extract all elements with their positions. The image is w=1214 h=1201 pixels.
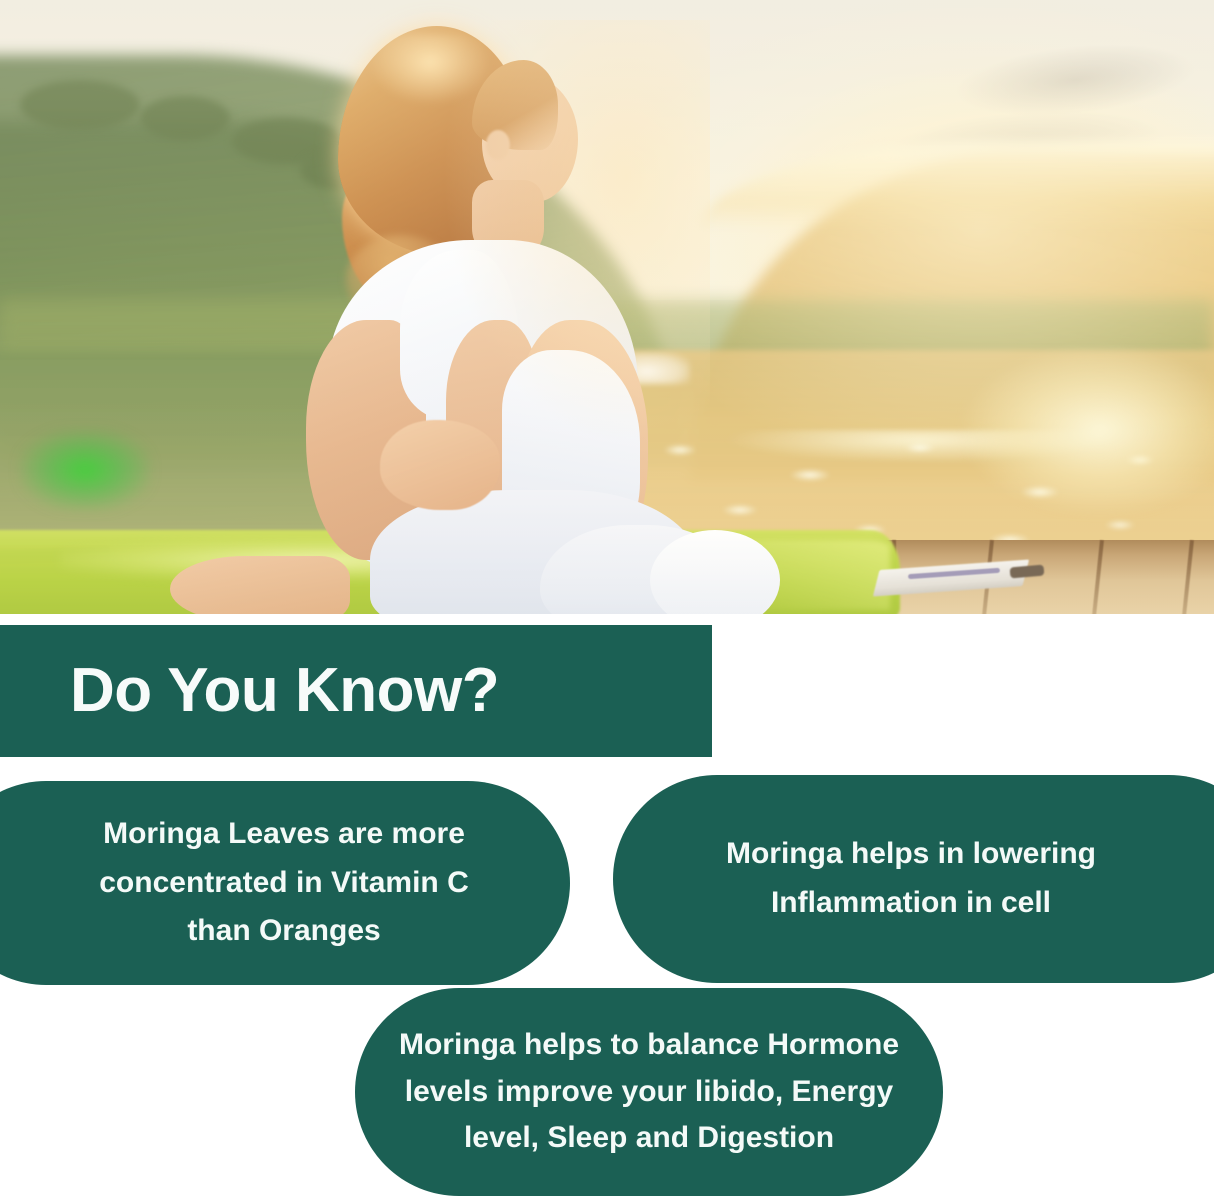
green-reflection xyxy=(20,430,150,510)
fact-pill-hormone: Moringa helps to balance Hormone levels … xyxy=(355,988,943,1196)
bare-foot xyxy=(170,556,350,614)
tree-tuft xyxy=(140,96,230,140)
page-title: Do You Know? xyxy=(70,660,499,722)
hero-photo xyxy=(0,0,1214,614)
do-you-know-banner: Do You Know? xyxy=(0,625,712,757)
fact-pill-text: Moringa helps in lowering Inflammation i… xyxy=(669,830,1153,927)
infographic-page: Do You Know? Moringa Leaves are more con… xyxy=(0,0,1214,1201)
ear xyxy=(486,130,510,160)
fact-pill-inflammation: Moringa helps in lowering Inflammation i… xyxy=(613,775,1214,983)
hair-highlight xyxy=(370,34,490,104)
fact-pill-text: Moringa helps to balance Hormone levels … xyxy=(395,1022,903,1162)
fact-pill-vitamin-c: Moringa Leaves are more concentrated in … xyxy=(0,781,570,985)
sun-flare xyxy=(940,300,1214,560)
woman-figure xyxy=(250,20,720,614)
fact-pill-text: Moringa Leaves are more concentrated in … xyxy=(64,810,504,956)
hand xyxy=(380,420,500,510)
tree-tuft xyxy=(20,80,140,130)
